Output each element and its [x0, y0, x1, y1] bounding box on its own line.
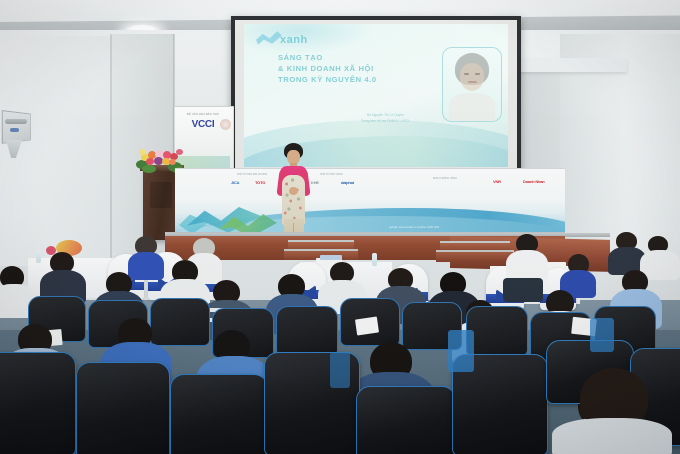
handout-paper: [355, 317, 379, 336]
portrait-eye: [464, 73, 469, 75]
conference-hall-photo: xanh SÁNG TẠO & KINH DOANH XÃ HỘI TRONG …: [0, 0, 680, 454]
sponsor-logo: VNR: [493, 179, 501, 184]
document-paper: [320, 255, 342, 260]
slide-headline-line3: TRONG KỶ NGUYÊN 4.0: [278, 75, 377, 84]
slide-caption-org: Trung tâm Hỗ trợ DNNVV - VCCI: [361, 119, 409, 123]
stage-step: [436, 252, 514, 262]
podium-panel: [150, 182, 172, 208]
attendee-legs: [503, 278, 543, 302]
chair: [150, 298, 210, 346]
slide-logo-text: xanh: [280, 34, 308, 46]
wall-speaker-icon: [2, 110, 31, 144]
slide-headline-line1: SÁNG TẠO: [278, 53, 323, 62]
sponsor-group-label: NHÀ TÀI TRỢ VÀNG: [320, 173, 343, 176]
attendee-body: [556, 418, 672, 454]
sponsor-logo: daiphat: [341, 180, 354, 185]
attendee-body: [128, 252, 164, 280]
chair: [356, 386, 456, 454]
wall-soffit: [505, 58, 627, 72]
sponsor-logo: TOTO: [255, 180, 265, 185]
sponsor-logo: Doanh Nhan: [523, 179, 545, 184]
speaker-driver: [10, 128, 19, 132]
water-bottle: [372, 253, 377, 266]
backdrop-url-text: website: www.dnxanh.vn | hotline: 1900 1…: [389, 226, 439, 229]
presenter: [271, 143, 315, 243]
portrait-body: [449, 93, 495, 122]
chair-frame: [330, 352, 350, 388]
chair: [76, 362, 170, 454]
chair: [0, 352, 76, 454]
slide-caption-name: Bà Nguyễn Thị Lệ Quyên: [367, 113, 404, 117]
emblem-icon: [220, 119, 231, 130]
sponsor-group-label: ĐƠN VỊ ĐỒNG HÀNH: [433, 177, 457, 180]
slide-portrait-frame: [442, 47, 502, 122]
vcci-banner-tagline: BỘ VĂN HÓA BÁO TRỢ: [180, 113, 226, 116]
sponsor-logo: JICA: [231, 180, 239, 185]
chair-frame: [448, 330, 474, 372]
portrait-face: [460, 63, 484, 91]
sponsor-group-label: NHÀ TÀI TRỢ KIM CƯƠNG: [237, 173, 267, 176]
portrait-eye: [475, 73, 480, 75]
portrait-mouth: [468, 81, 477, 83]
speaker-grill: [5, 119, 27, 124]
chair-frame: [590, 318, 614, 352]
presenter-ao-dai: [282, 175, 305, 225]
stage-backdrop: NHÀ TÀI TRỢ KIM CƯƠNG JICA TOTO NHÀ TÀI …: [175, 168, 565, 240]
chair: [170, 374, 268, 454]
chair: [466, 306, 528, 356]
slide-headline-line2: & KINH DOANH XÃ HỘI: [278, 64, 374, 73]
presenter-hands-microphone: [289, 187, 298, 195]
water-bottle: [36, 250, 41, 263]
backdrop-divider: [175, 168, 565, 169]
chair: [276, 306, 338, 356]
